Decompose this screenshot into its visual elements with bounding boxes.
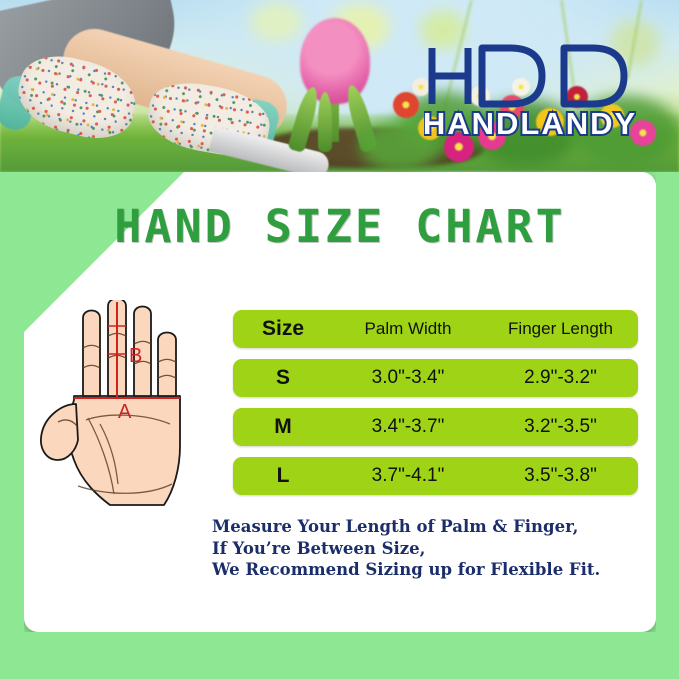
finger-length-label: B [129,345,142,367]
column-header-size: Size [233,317,333,341]
cell-palm-width: 3.4"-3.7" [333,416,483,438]
palm-width-label: A [118,401,132,423]
handlandy-logo: HANDLANDY [424,42,636,136]
hand-size-chart-infographic: HANDLANDY HAND SIZE CHART [0,0,679,679]
magenta-blossom [444,132,474,162]
column-header-finger-length: Finger Length [483,319,638,339]
table-header-row: Size Palm Width Finger Length [233,310,638,348]
column-header-palm-width: Palm Width [333,319,483,339]
cell-palm-width: 3.7"-4.1" [333,465,483,487]
table-row: M 3.4"-3.7" 3.2"-3.5" [233,408,638,446]
cell-finger-length: 3.2"-3.5" [483,416,638,438]
cell-palm-width: 3.0"-3.4" [333,367,483,389]
size-table: Size Palm Width Finger Length S 3.0"-3.4… [233,310,638,495]
hand-measurement-diagram: B A [38,300,208,515]
sizing-note-line-3: We Recommend Sizing up for Flexible Fit. [212,559,642,581]
bokeh-blob [250,2,302,42]
logo-wordmark-text: HANDLANDY [424,106,636,136]
cell-finger-length: 3.5"-3.8" [483,465,638,487]
cell-size: S [233,366,333,390]
cell-size: M [233,415,333,439]
table-row: L 3.7"-4.1" 3.5"-3.8" [233,457,638,495]
sizing-note-line-2: If You’re Between Size, [212,538,642,560]
cell-size: L [233,464,333,488]
cell-finger-length: 2.9"-3.2" [483,367,638,389]
sizing-note: Measure Your Length of Palm & Finger, If… [212,516,642,581]
table-row: S 3.0"-3.4" 2.9"-3.2" [233,359,638,397]
red-blossom [393,92,419,118]
page-title: HAND SIZE CHART [24,200,656,253]
sizing-note-line-1: Measure Your Length of Palm & Finger, [212,516,642,538]
leaf [318,92,332,152]
